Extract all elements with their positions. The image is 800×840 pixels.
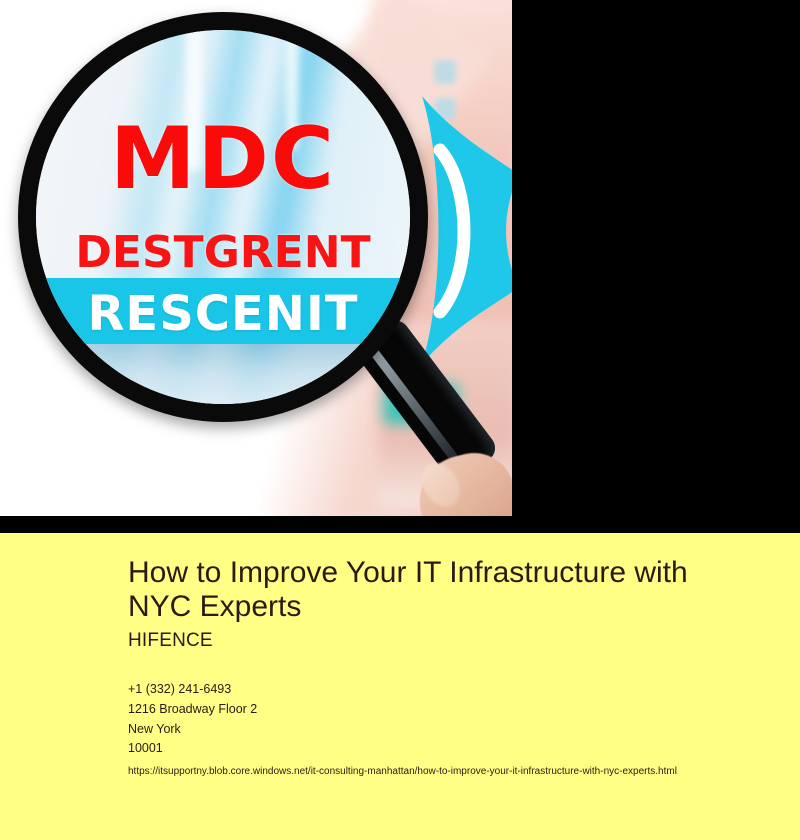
lens-word-secondary: DESTGRENT — [75, 231, 370, 275]
contact-block: +1 (332) 241-6493 1216 Broadway Floor 2 … — [128, 680, 760, 759]
contact-street: 1216 Broadway Floor 2 — [128, 700, 760, 720]
page-root: MDC DESTGRENT RESCENIT How to Improve Yo… — [0, 0, 800, 840]
lens-word-primary: MDC — [110, 118, 336, 201]
lens-word-banner: RESCENIT — [36, 286, 410, 342]
contact-city: New York — [128, 720, 760, 740]
contact-zip: 10001 — [128, 739, 760, 759]
page-title: How to Improve Your IT Infrastructure wi… — [128, 556, 688, 623]
brand-name: HIFENCE — [128, 630, 760, 652]
lens-text-stack: MDC DESTGRENT — [36, 30, 410, 404]
contact-phone[interactable]: +1 (332) 241-6493 — [128, 680, 760, 700]
window-1 — [434, 60, 456, 84]
article-url[interactable]: https://itsupportny.blob.core.windows.ne… — [128, 765, 760, 779]
magnifier-lens: MDC DESTGRENT RESCENIT — [18, 12, 428, 422]
info-panel-content: How to Improve Your IT Infrastructure wi… — [128, 556, 760, 779]
hero-image: MDC DESTGRENT RESCENIT — [0, 0, 512, 516]
lens-glass: MDC DESTGRENT RESCENIT — [36, 30, 410, 404]
info-panel: How to Improve Your IT Infrastructure wi… — [0, 533, 800, 840]
